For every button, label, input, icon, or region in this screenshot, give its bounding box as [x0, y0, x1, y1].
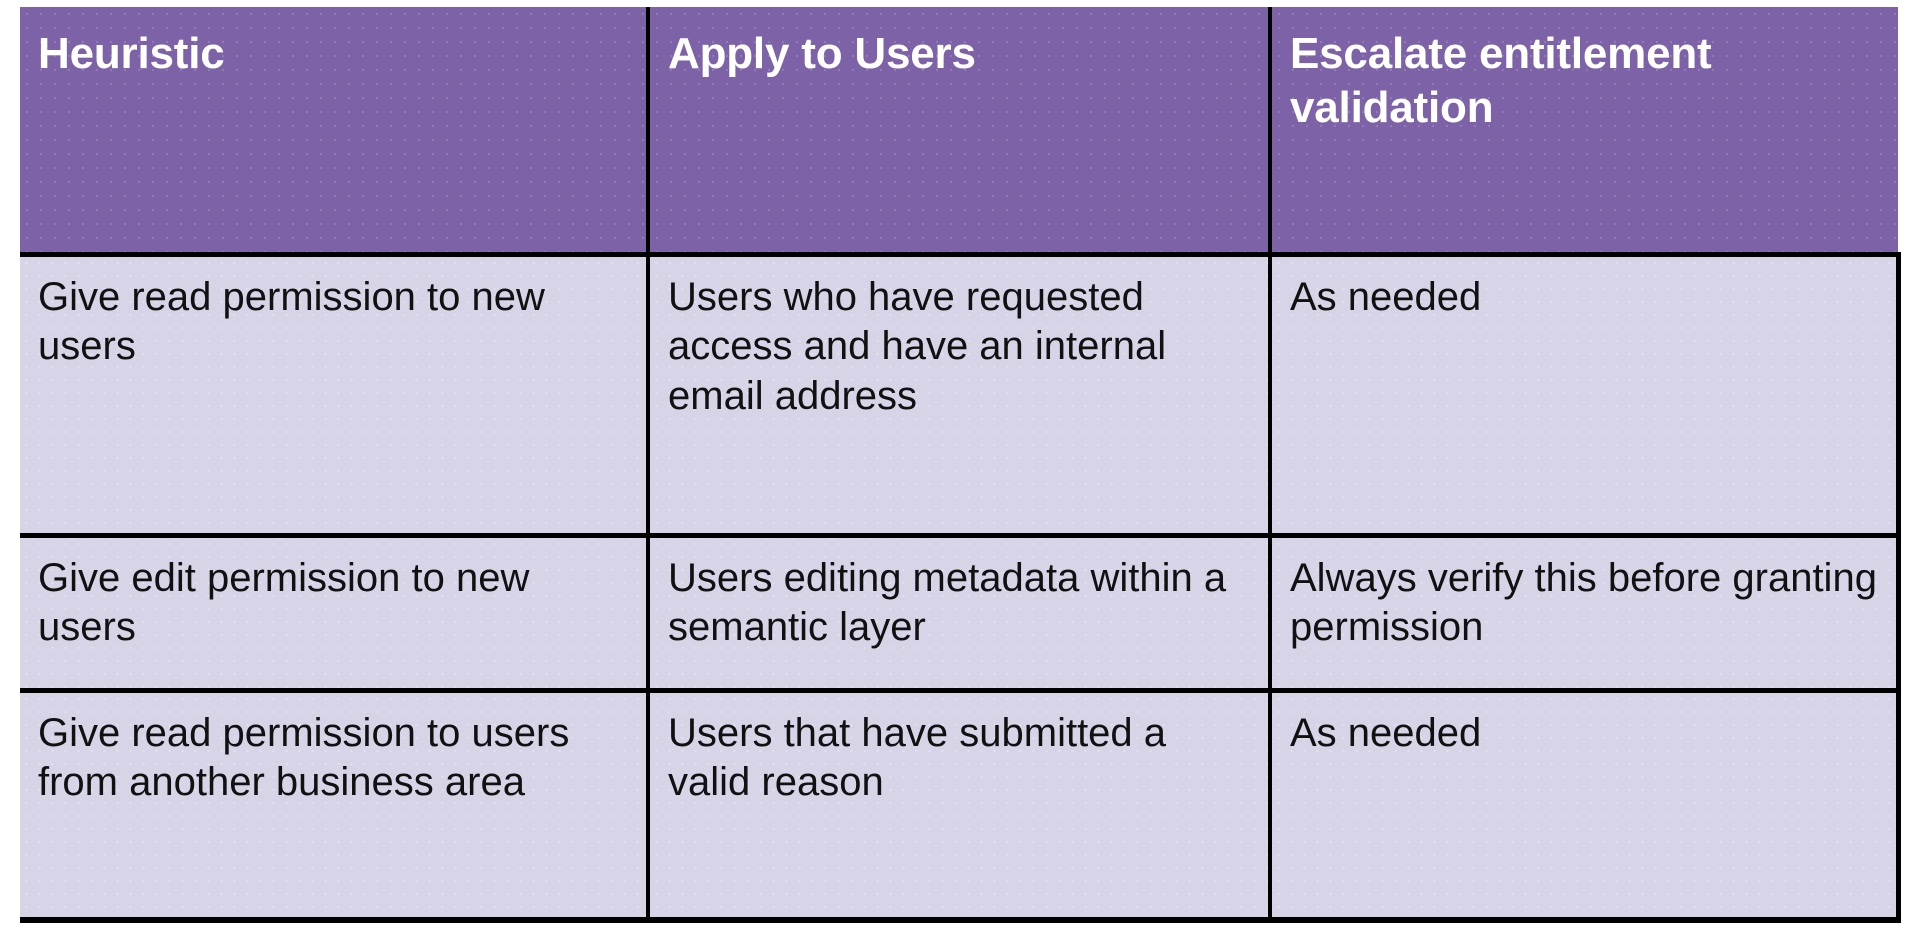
cell-apply-to-users-text: Users who have requested access and have…	[668, 273, 1250, 422]
table-header: Heuristic Apply to Users Escalate entitl…	[20, 7, 1898, 254]
cell-heuristic-text: Give read permission to users from anoth…	[38, 709, 628, 808]
permission-heuristics-table: Heuristic Apply to Users Escalate entitl…	[20, 7, 1901, 923]
heuristics-table-container: Heuristic Apply to Users Escalate entitl…	[20, 7, 1898, 920]
cell-heuristic: Give read permission to new users	[20, 254, 648, 535]
cell-escalate: As needed	[1270, 254, 1898, 535]
cell-heuristic-text: Give read permission to new users	[38, 273, 628, 372]
cell-escalate-text: As needed	[1290, 273, 1878, 323]
column-header-heuristic: Heuristic	[20, 7, 648, 254]
column-header-heuristic-label: Heuristic	[38, 27, 628, 81]
column-header-apply-to-users: Apply to Users	[648, 7, 1270, 254]
cell-heuristic: Give read permission to users from anoth…	[20, 690, 648, 920]
cell-heuristic-text: Give edit permission to new users	[38, 554, 628, 653]
cell-escalate-text: Always verify this before granting permi…	[1290, 554, 1878, 653]
column-header-escalate-entitlement-validation: Escalate entitlement validation	[1270, 7, 1898, 254]
table-row: Give read permission to users from anoth…	[20, 690, 1898, 920]
table-row: Give edit permission to new users Users …	[20, 535, 1898, 690]
cell-apply-to-users-text: Users editing metadata within a semantic…	[668, 554, 1250, 653]
cell-heuristic: Give edit permission to new users	[20, 535, 648, 690]
column-header-escalate-entitlement-validation-label: Escalate entitlement validation	[1290, 27, 1880, 134]
table-body: Give read permission to new users Users …	[20, 254, 1898, 920]
cell-apply-to-users: Users editing metadata within a semantic…	[648, 535, 1270, 690]
table-row: Give read permission to new users Users …	[20, 254, 1898, 535]
column-header-apply-to-users-label: Apply to Users	[668, 27, 1250, 81]
table-header-row: Heuristic Apply to Users Escalate entitl…	[20, 7, 1898, 254]
cell-apply-to-users: Users that have submitted a valid reason	[648, 690, 1270, 920]
cell-escalate-text: As needed	[1290, 709, 1878, 759]
cell-apply-to-users: Users who have requested access and have…	[648, 254, 1270, 535]
cell-apply-to-users-text: Users that have submitted a valid reason	[668, 709, 1250, 808]
cell-escalate: As needed	[1270, 690, 1898, 920]
cell-escalate: Always verify this before granting permi…	[1270, 535, 1898, 690]
